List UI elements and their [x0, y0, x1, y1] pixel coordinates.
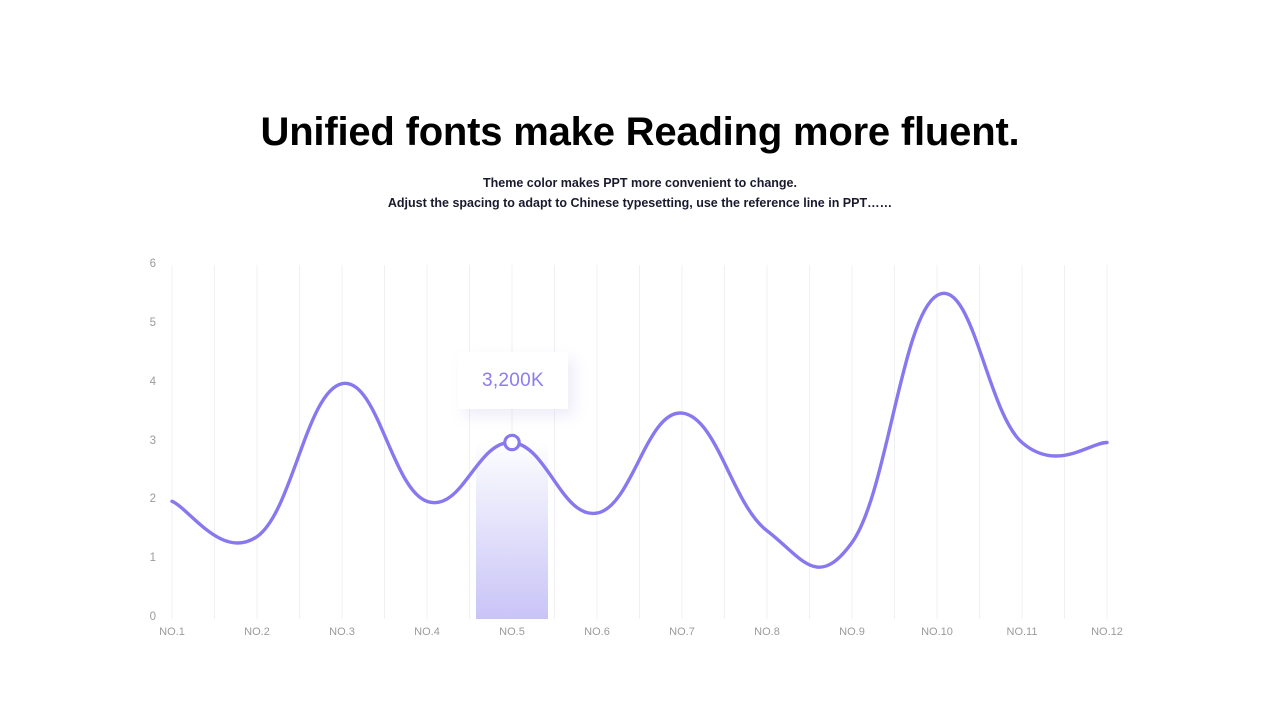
y-axis-tick-label: 5 — [130, 317, 156, 329]
x-axis-tick-label: NO.4 — [392, 626, 462, 638]
x-axis-tick-label: NO.7 — [647, 626, 717, 638]
x-axis-tick-label: NO.9 — [817, 626, 887, 638]
y-axis-tick-label: 1 — [130, 552, 156, 564]
slide-root: Unified fonts make Reading more fluent. … — [0, 0, 1280, 720]
y-axis-tick-label: 6 — [130, 258, 156, 270]
x-axis-tick-label: NO.1 — [137, 626, 207, 638]
y-axis-tick-label: 3 — [130, 435, 156, 447]
x-axis-tick-label: NO.10 — [902, 626, 972, 638]
x-axis-tick-label: NO.3 — [307, 626, 377, 638]
line-chart: 0123456 NO.1NO.2NO.3NO.4NO.5NO.6NO.7NO.8… — [0, 0, 1280, 720]
x-axis-tick-label: NO.6 — [562, 626, 632, 638]
y-axis-tick-label: 2 — [130, 493, 156, 505]
highlight-column — [476, 443, 548, 620]
highlight-marker — [505, 435, 519, 449]
x-axis-tick-label: NO.12 — [1072, 626, 1142, 638]
x-axis-tick-label: NO.11 — [987, 626, 1057, 638]
x-axis-tick-label: NO.5 — [477, 626, 547, 638]
y-axis-tick-label: 0 — [130, 611, 156, 623]
tooltip-value-label: 3,200K — [482, 370, 544, 392]
y-axis-tick-label: 4 — [130, 376, 156, 388]
chart-tooltip[interactable]: 3,200K — [458, 352, 568, 409]
x-axis-tick-label: NO.8 — [732, 626, 802, 638]
chart-canvas — [0, 0, 1280, 720]
x-axis-tick-label: NO.2 — [222, 626, 292, 638]
